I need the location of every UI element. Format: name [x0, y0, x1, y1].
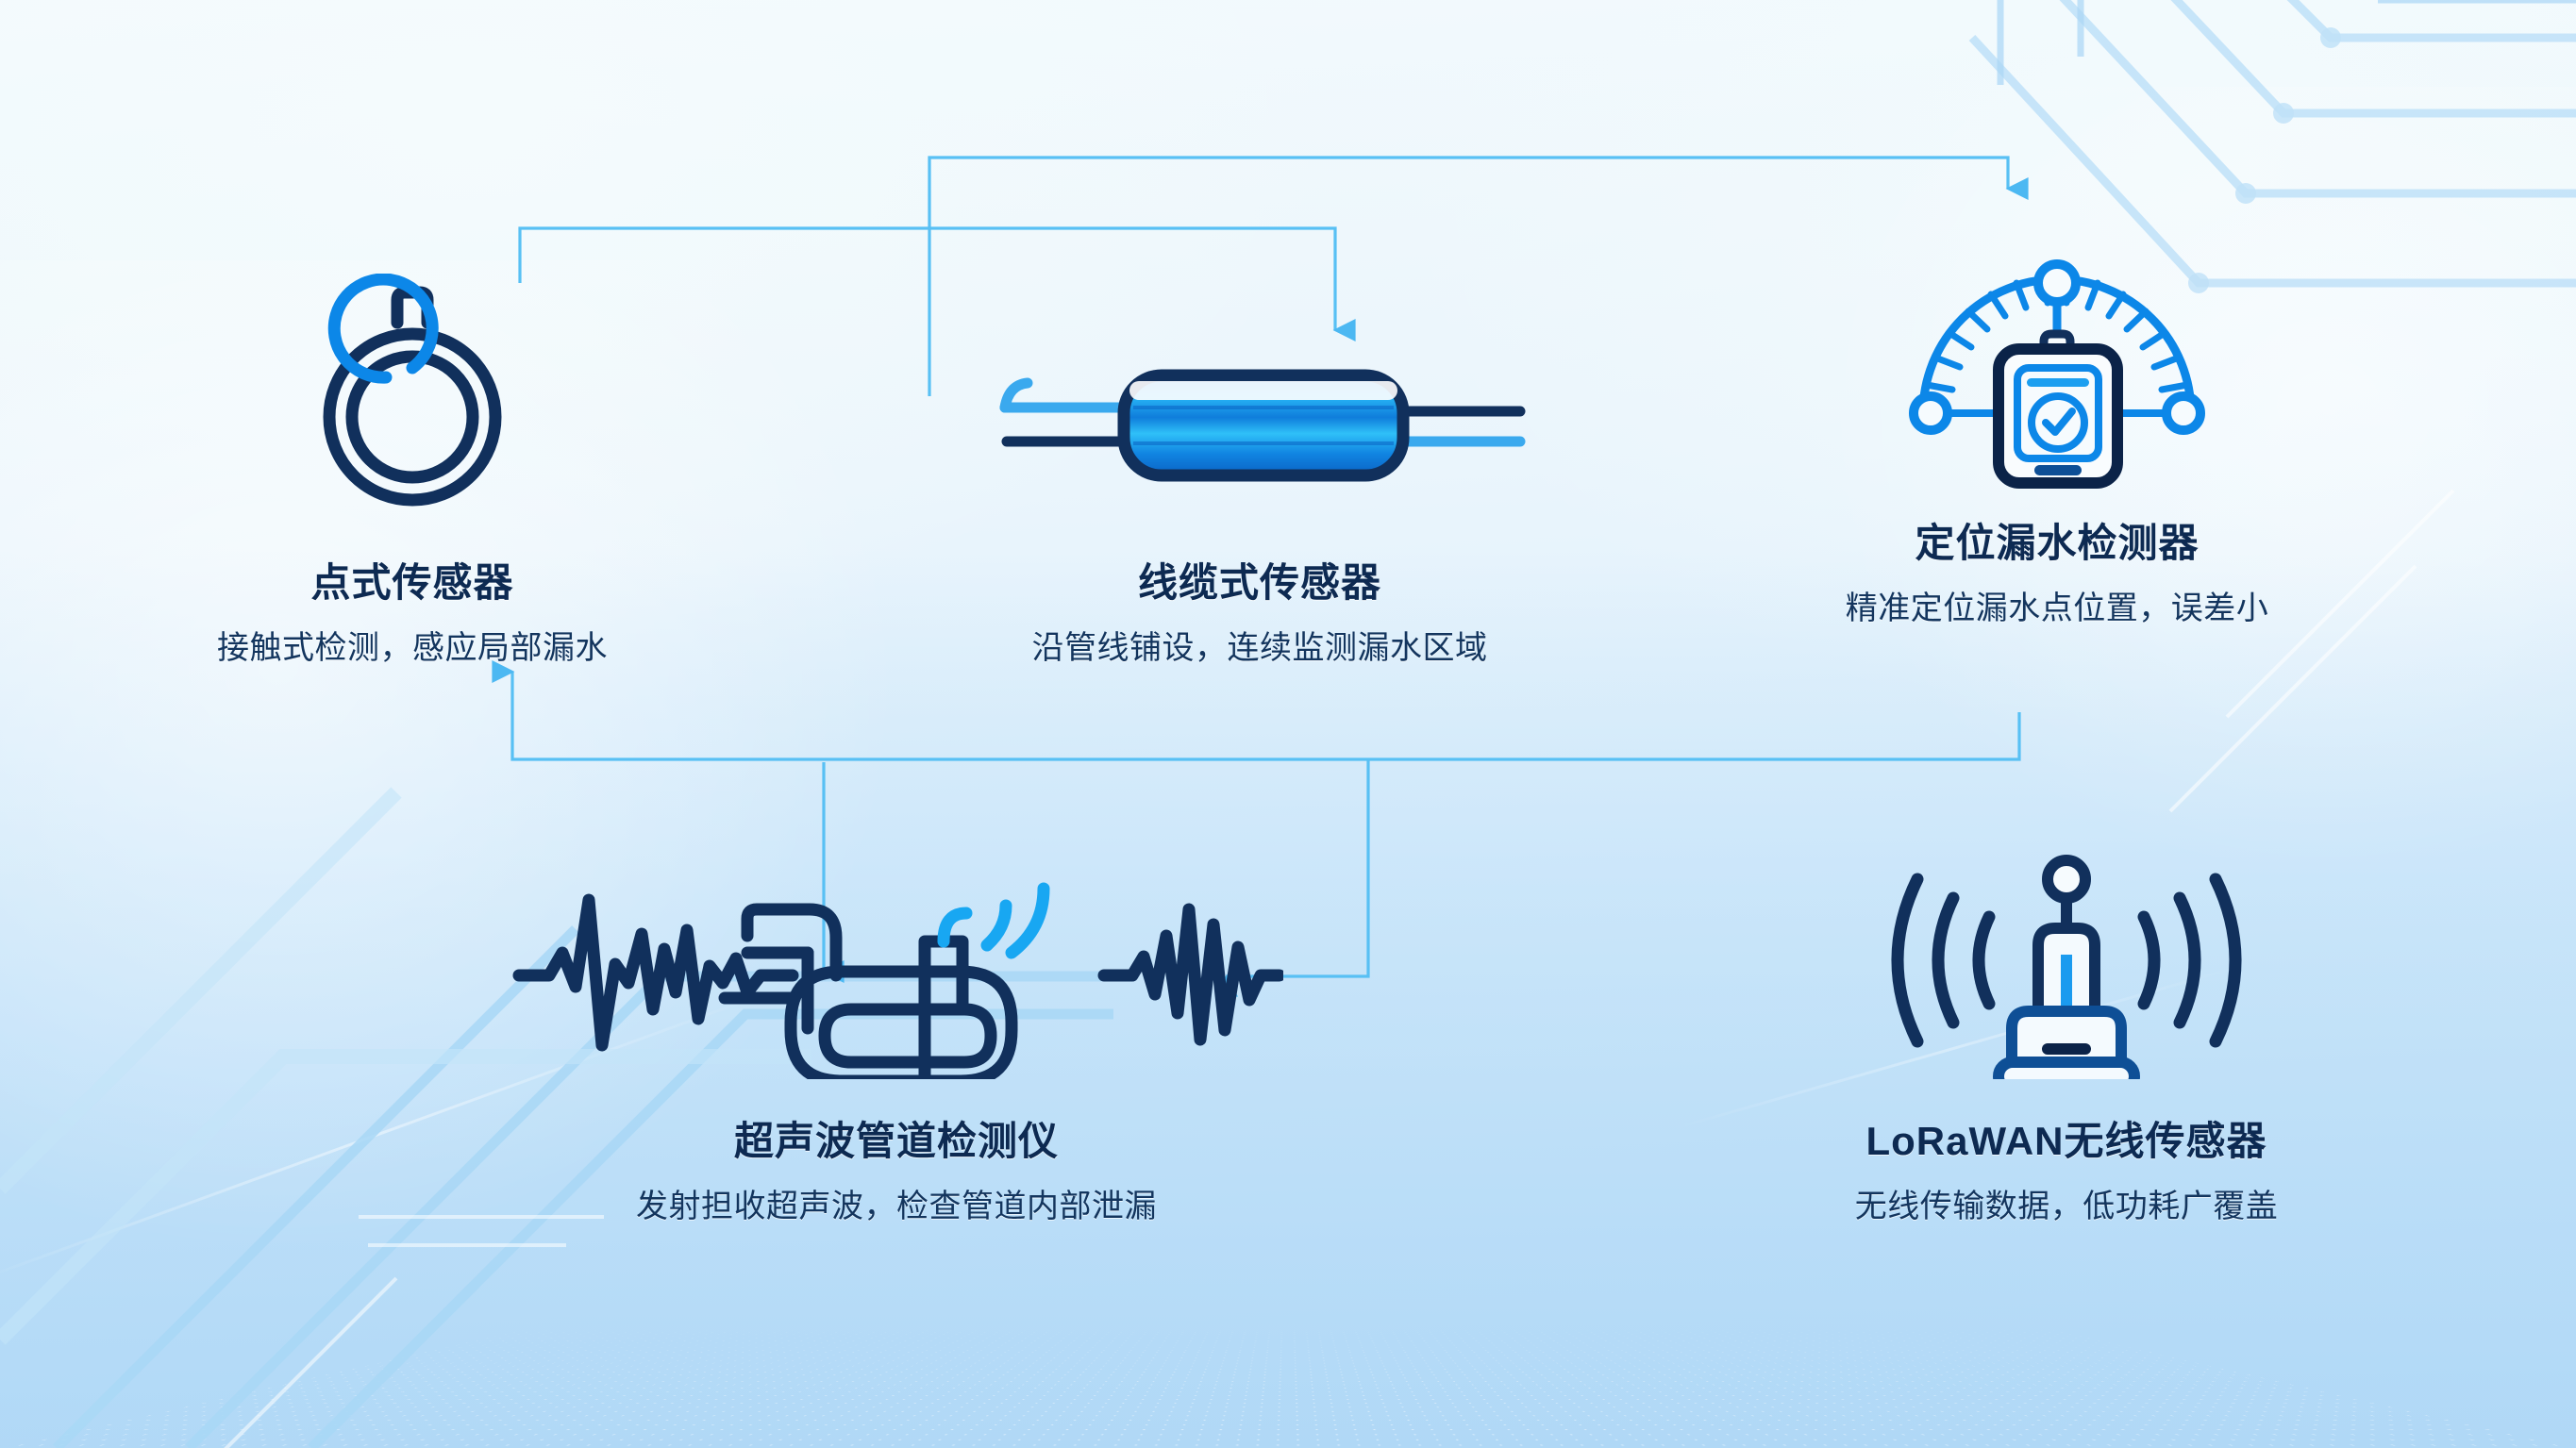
card-desc: 沿管线铺设，连续监测漏水区域	[887, 622, 1632, 668]
card-desc: 无线传输数据，低功耗广覆盖	[1689, 1180, 2444, 1226]
lorawan-sensor-icon-wrap	[1689, 830, 2444, 1085]
card-title: 点式传感器	[209, 551, 615, 608]
card-leak-locator[interactable]: 定位漏水检测器 精准定位漏水点位置，误差小	[1698, 179, 2416, 628]
ultrasonic-detector-icon-wrap	[481, 830, 1312, 1085]
cable-sensor-icon	[929, 317, 1590, 506]
lorawan-sensor-icon	[1878, 843, 2255, 1079]
cable-sensor-icon-wrap	[887, 274, 1632, 519]
card-ultrasonic-detector[interactable]: 超声波管道检测仪 发射担收超声波，检查管道内部泄漏	[481, 830, 1312, 1226]
leak-locator-icon	[1868, 179, 2246, 491]
leak-locator-icon-wrap	[1698, 179, 2416, 491]
card-desc: 发射担收超声波，检查管道内部泄漏	[481, 1180, 1312, 1226]
card-desc: 精准定位漏水点位置，误差小	[1698, 582, 2416, 628]
card-lorawan-sensor[interactable]: LoRaWAN无线传感器 无线传输数据，低功耗广覆盖	[1689, 830, 2444, 1226]
card-title: 定位漏水检测器	[1698, 511, 2416, 569]
ultrasonic-detector-icon	[510, 843, 1283, 1079]
card-title: 线缆式传感器	[887, 551, 1632, 608]
card-desc: 接触式检测，感应局部漏水	[209, 622, 615, 668]
point-sensor-icon	[299, 274, 526, 519]
card-title: 超声波管道检测仪	[481, 1109, 1312, 1167]
point-sensor-icon-wrap	[209, 274, 615, 519]
infographic-stage: 点式传感器 接触式检测，感应局部漏水	[0, 0, 2576, 1448]
card-cable-sensor[interactable]: 线缆式传感器 沿管线铺设，连续监测漏水区域	[887, 274, 1632, 668]
card-point-sensor[interactable]: 点式传感器 接触式检测，感应局部漏水	[209, 274, 615, 668]
card-title: LoRaWAN无线传感器	[1689, 1109, 2444, 1167]
connector-locator-to-point	[512, 672, 2019, 759]
